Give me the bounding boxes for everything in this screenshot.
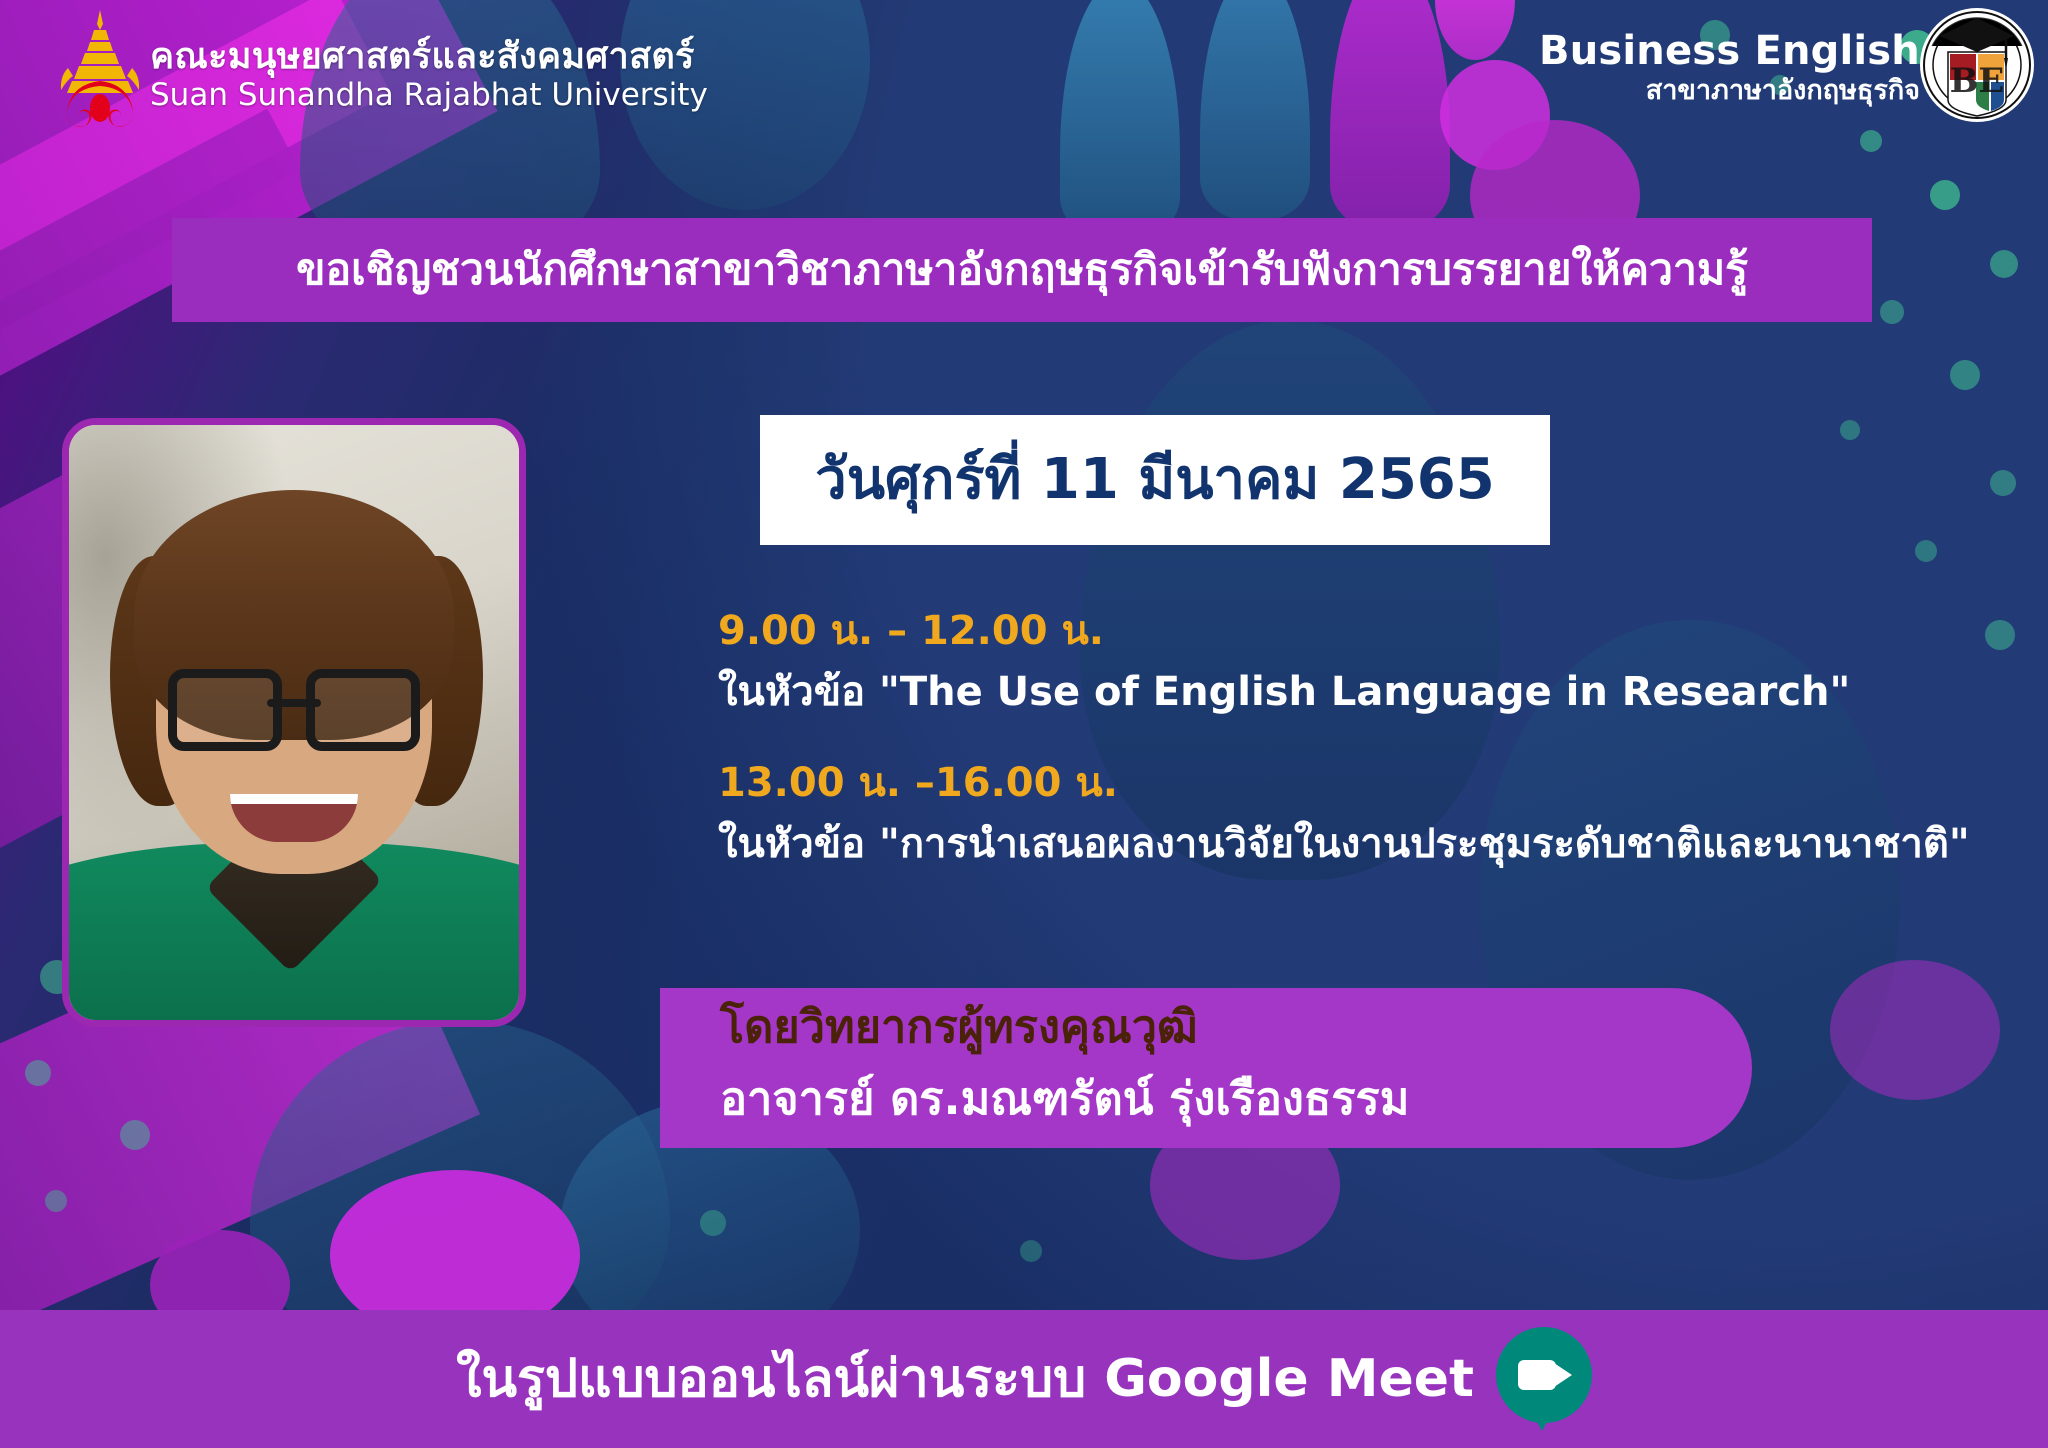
decor-dot-9 <box>1950 360 1980 390</box>
decor-dot-18 <box>45 1190 67 1212</box>
schedule-topic-afternoon: ในหัวข้อ "การนำเสนอผลงานวิจัยในงานประชุม… <box>718 820 2028 868</box>
schedule-time-morning: 9.00 น. – 12.00 น. <box>718 608 2028 654</box>
speaker-name: อาจารย์ ดร.มณฑรัตน์ รุ่งเรืองธรรม <box>720 1076 1409 1121</box>
svg-text:BE: BE <box>1950 61 2005 101</box>
decor-blob-magenta-6 <box>1830 960 2000 1100</box>
faculty-name-th: คณะมนุษยศาสตร์และสังคมศาสตร์ <box>150 38 708 76</box>
schedule-time-afternoon: 13.00 น. –16.00 น. <box>718 760 2028 806</box>
program-name-en: Business English <box>1539 30 1920 72</box>
decor-dot-16 <box>25 1060 51 1086</box>
footer-bar: ในรูปแบบออนไลน์ผ่านระบบ Google Meet <box>0 1310 2048 1448</box>
schedule-item-afternoon: 13.00 น. –16.00 น. ในหัวข้อ "การนำเสนอผล… <box>718 760 2028 868</box>
program-name-block: Business English สาขาภาษาอังกฤษธุรกิจ <box>1539 30 1920 108</box>
meet-camera-body <box>1518 1360 1556 1390</box>
business-english-graduation-cap-seal-icon: BE <box>1918 6 2036 124</box>
portrait-glasses-left <box>168 669 282 751</box>
decor-dot-7 <box>1990 250 2018 278</box>
faculty-name-en: Suan Sunandha Rajabhat University <box>150 77 708 114</box>
decor-dot-11 <box>1990 470 2016 496</box>
portrait-glasses-right <box>306 669 420 751</box>
event-date-text: วันศุกร์ที่ 11 มีนาคม 2565 <box>815 452 1494 508</box>
invitation-title-banner: ขอเชิญชวนนักศึกษาสาขาวิชาภาษาอังกฤษธุรกิ… <box>172 218 1872 322</box>
faculty-name-block: คณะมนุษยศาสตร์และสังคมศาสตร์ Suan Sunand… <box>150 38 708 114</box>
poster-canvas: คณะมนุษยศาสตร์และสังคมศาสตร์ Suan Sunand… <box>0 0 2048 1448</box>
speaker-role-label: โดยวิทยากรผู้ทรงคุณวุฒิ <box>720 1004 1198 1049</box>
poster-header: คณะมนุษยศาสตร์และสังคมศาสตร์ Suan Sunand… <box>0 0 2048 150</box>
decor-dot-17 <box>120 1120 150 1150</box>
invitation-title-text: ขอเชิญชวนนักศึกษาสาขาวิชาภาษาอังกฤษธุรกิ… <box>296 249 1748 292</box>
meet-camera-lens <box>1554 1363 1572 1387</box>
decor-dot-12 <box>1915 540 1937 562</box>
schedule-list: 9.00 น. – 12.00 น. ในหัวข้อ "The Use of … <box>718 608 2028 868</box>
decor-dot-19 <box>700 1210 726 1236</box>
decor-dot-8 <box>1880 300 1904 324</box>
ssru-phra-sumen-logo-icon <box>54 8 146 128</box>
speaker-portrait-photo <box>62 418 526 1027</box>
decor-dot-4 <box>1930 180 1960 210</box>
portrait-glasses-bridge <box>267 699 321 707</box>
decor-dot-10 <box>1840 420 1860 440</box>
schedule-item-morning: 9.00 น. – 12.00 น. ในหัวข้อ "The Use of … <box>718 608 2028 716</box>
event-date-box: วันศุกร์ที่ 11 มีนาคม 2565 <box>760 415 1550 545</box>
footer-platform-text: ในรูปแบบออนไลน์ผ่านระบบ Google Meet <box>456 1353 1474 1405</box>
schedule-topic-morning: ในหัวข้อ "The Use of English Language in… <box>718 668 2028 716</box>
program-name-th: สาขาภาษาอังกฤษธุรกิจ <box>1539 74 1920 108</box>
speaker-band: โดยวิทยากรผู้ทรงคุณวุฒิ อาจารย์ ดร.มณฑรั… <box>660 988 1752 1148</box>
google-meet-video-camera-icon <box>1496 1327 1592 1431</box>
decor-dot-20 <box>1020 1240 1042 1262</box>
